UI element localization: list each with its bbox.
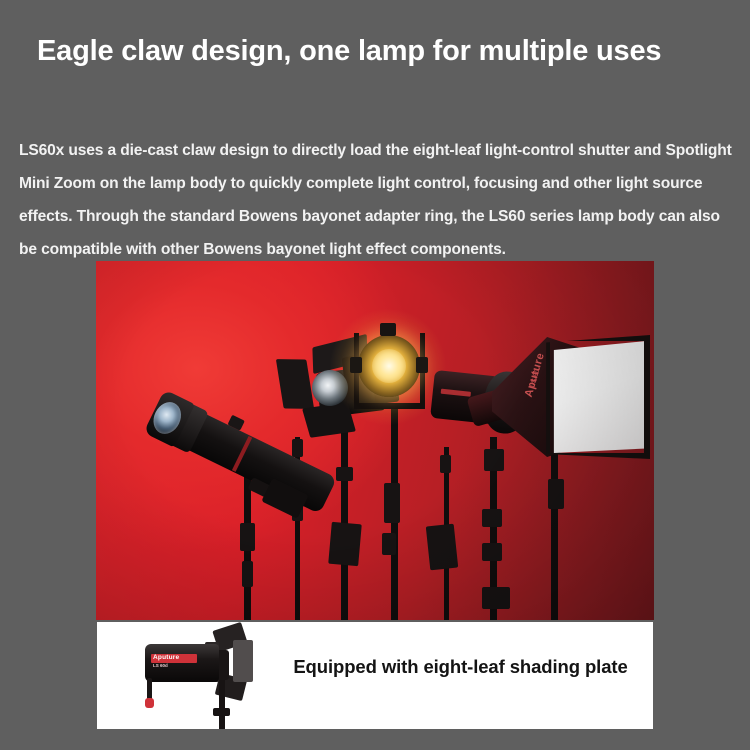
description-paragraph: LS60x uses a die-cast claw design to dir… (19, 134, 735, 266)
lamp-model-label: LS 60d (153, 663, 168, 668)
page-title: Eagle claw design, one lamp for multiple… (37, 22, 737, 80)
lamp-brand-label: Aputure (153, 654, 179, 661)
stand-clamp (213, 708, 230, 716)
studio-lighting-photo: Aputure LS 60 (96, 261, 654, 620)
caption-label: Equipped with eight-leaf shading plate (288, 656, 633, 678)
product-figure: Aputure LS 60 Aputure LS 60d Equipped wi… (96, 261, 654, 729)
photo-vignette (96, 261, 654, 620)
light-stand (219, 680, 225, 729)
power-connector (145, 698, 154, 708)
lamp-with-barndoors-product-shot: Aputure LS 60d (141, 626, 259, 729)
barndoor-leaf-right (233, 640, 253, 682)
caption-strip: Aputure LS 60d Equipped with eight-leaf … (97, 622, 653, 729)
